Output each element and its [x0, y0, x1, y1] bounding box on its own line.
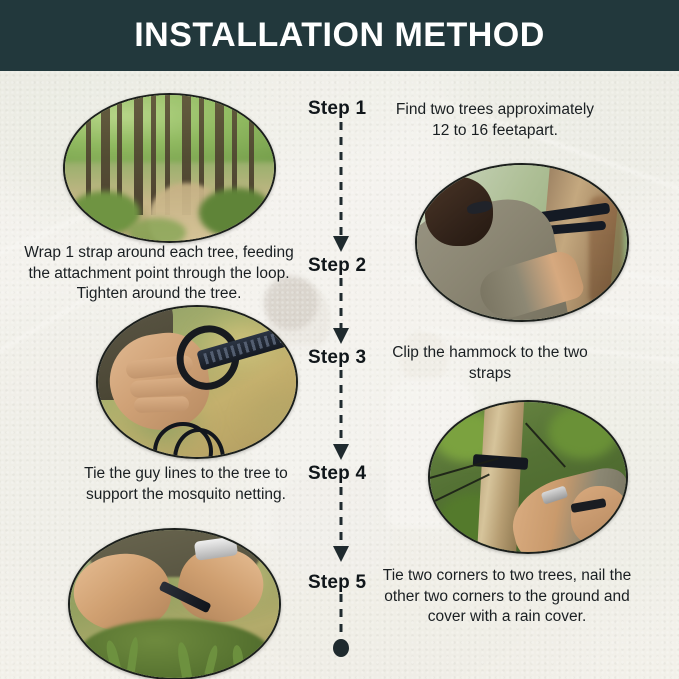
installation-method-infographic: INSTALLATION METHOD Step 1 Find two tree…: [0, 0, 679, 679]
ground-stake-photo: [68, 528, 281, 679]
step-2-caption: Wrap 1 strap around each tree, feeding t…: [14, 243, 304, 305]
step-4-label: Step 4: [308, 463, 366, 485]
step-4-caption: Tie the guy lines to the tree to support…: [70, 464, 302, 505]
strap-around-tree-photo: [415, 163, 629, 322]
step-2-label: Step 2: [308, 255, 366, 277]
step-3-label: Step 3: [308, 347, 366, 369]
page-title: INSTALLATION METHOD: [134, 16, 545, 55]
step-5-label: Step 5: [308, 572, 366, 594]
step-3-caption: Clip the hammock to the two straps: [390, 343, 590, 384]
step-1-caption: Find two trees approximately 12 to 16 fe…: [390, 100, 600, 141]
header-bar: INSTALLATION METHOD: [0, 0, 679, 71]
step-1-label: Step 1: [308, 98, 366, 120]
step-5-caption: Tie two corners to two trees, nail the o…: [382, 566, 632, 628]
forest-trail-photo: [63, 93, 276, 243]
carabiner-clip-photo: [96, 305, 298, 459]
tie-guy-lines-photo: [428, 400, 628, 554]
